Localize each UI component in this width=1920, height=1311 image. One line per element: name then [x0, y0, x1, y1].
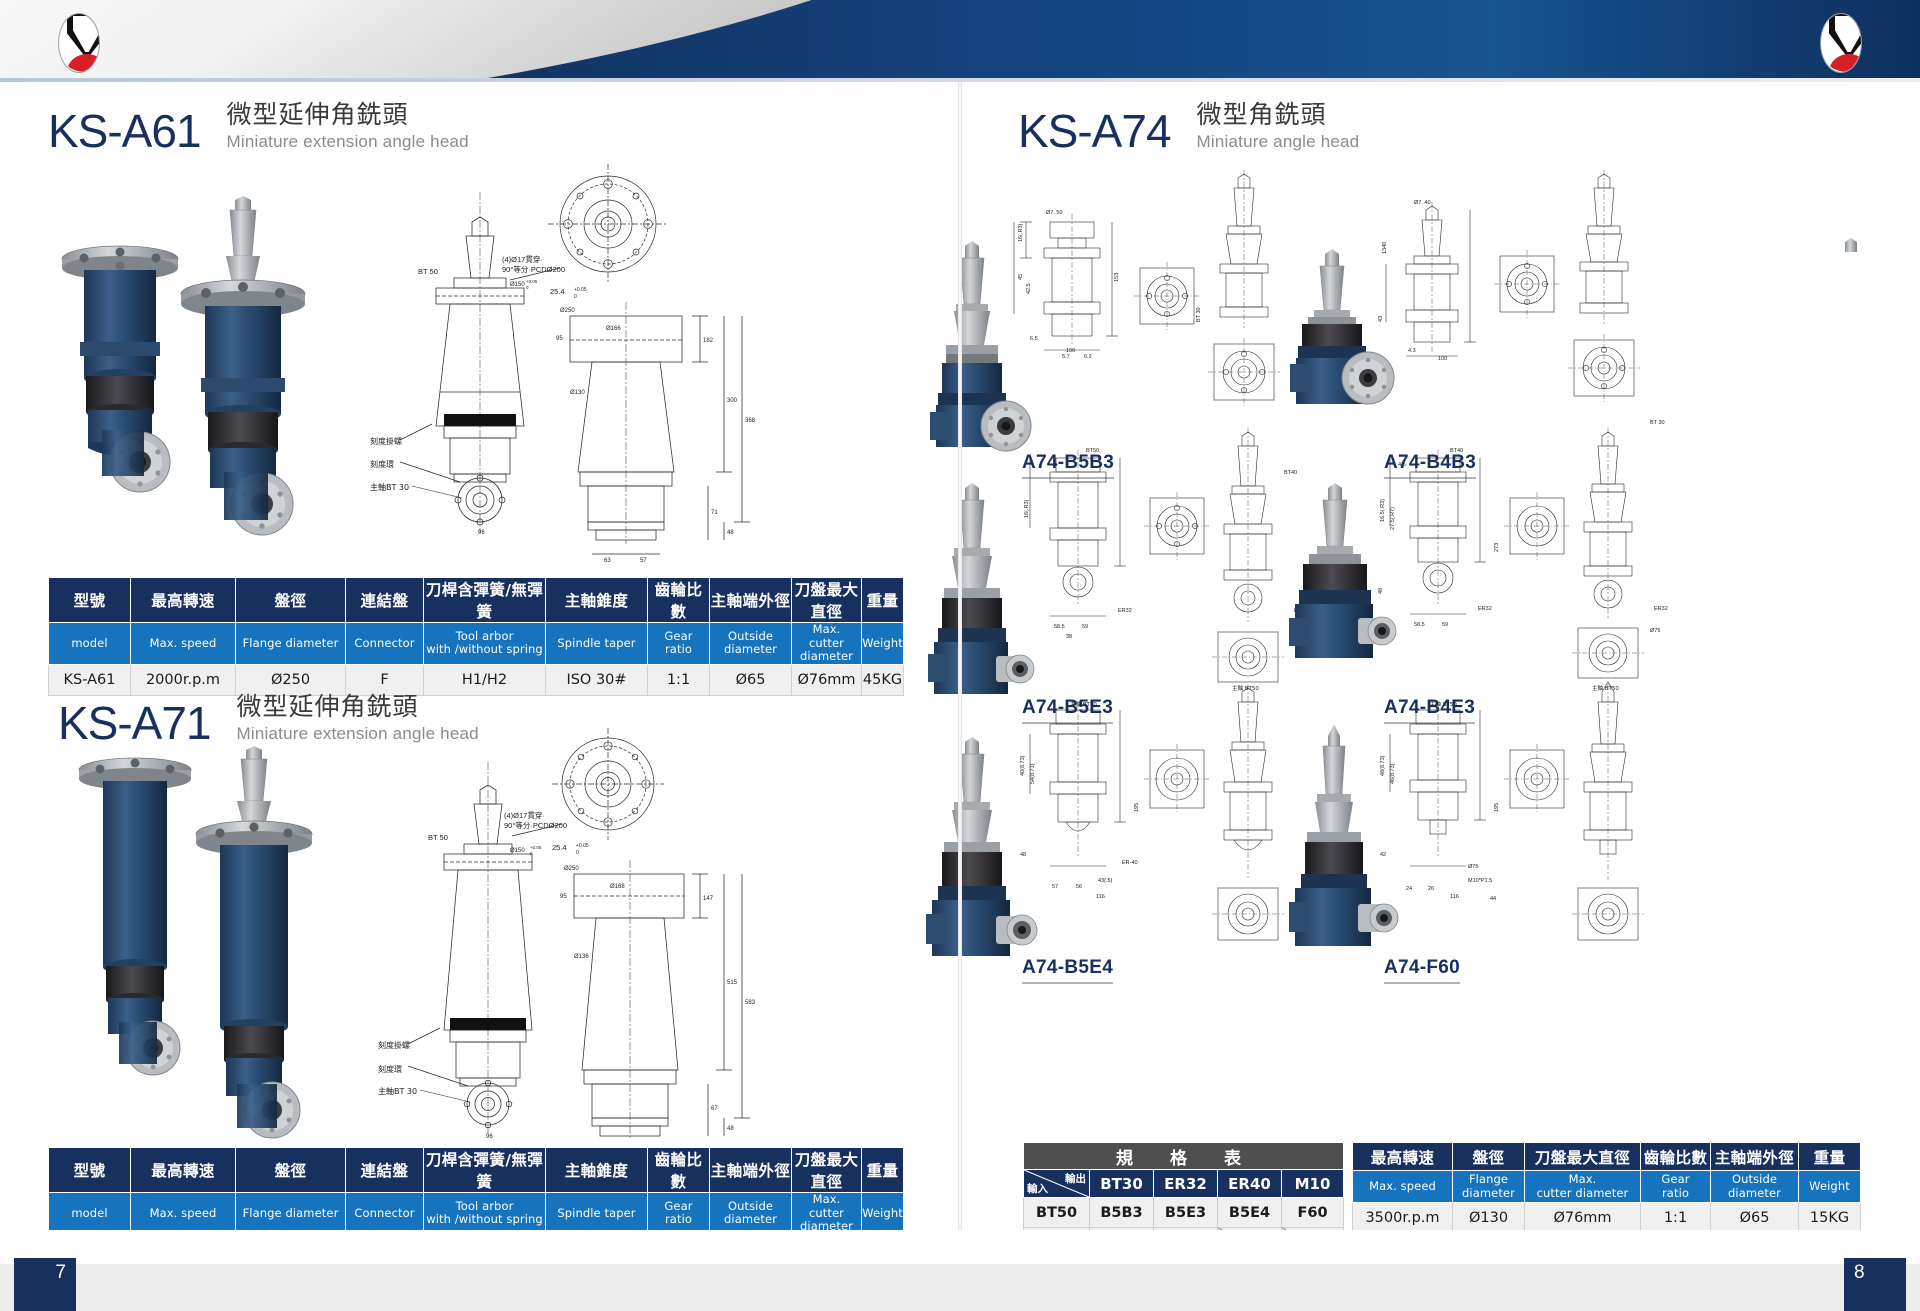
- th-cn-model: 型號: [49, 578, 131, 623]
- svg-text:BT50: BT50: [1086, 448, 1099, 454]
- matrix-rowhead-bt50: BT50: [1024, 1198, 1090, 1228]
- matrix-header-row: 輸入 輸出 BT30 ER32 ER40 M10: [1024, 1170, 1344, 1198]
- photo-unit-2: [181, 196, 305, 535]
- svg-text:56: 56: [1076, 884, 1082, 890]
- svg-text:57: 57: [640, 558, 647, 564]
- td-flange-diameter: Ø250: [236, 664, 346, 695]
- svg-text:195: 195: [1134, 803, 1140, 812]
- svg-text:刻度掛螺: 刻度掛螺: [378, 1040, 410, 1050]
- svg-text:43: 43: [1378, 316, 1384, 322]
- svg-text:96: 96: [478, 530, 485, 536]
- product-name-cn: 微型角銑頭: [1197, 100, 1360, 130]
- svg-text:主軸 BT50: 主軸 BT50: [1592, 684, 1619, 692]
- svg-text:44: 44: [1490, 896, 1496, 902]
- th-en-model: model: [49, 1193, 131, 1235]
- td-max-cutter-diameter: Ø76mm: [1525, 1203, 1641, 1234]
- table-row: 3500r.p.m Ø130 Ø76mm 1:1 Ø65 15KG: [1353, 1203, 1861, 1234]
- th-en-max-speed: Max. speed: [131, 623, 236, 665]
- th-en-spindle-taper: Spindle taper: [546, 623, 648, 665]
- elevation-drawing-a61: [570, 302, 750, 554]
- th-cn-model: 型號: [49, 1148, 131, 1193]
- svg-text:4.5: 4.5: [1398, 462, 1406, 468]
- svg-text:Ø7. 50: Ø7. 50: [1046, 210, 1063, 216]
- svg-text:刻度環: 刻度環: [370, 459, 394, 469]
- table-header-row-cn: 型號 最高轉速 盤徑 連結盤 刀桿含彈簧/無彈簧 主軸錐度 齒輪比數 主軸端外徑…: [49, 578, 904, 623]
- th-en-connector: Connector: [346, 623, 424, 665]
- th-en-max-cutter-diameter: Max.cutter diameter: [1525, 1171, 1641, 1203]
- logo-red-shape: [67, 54, 100, 72]
- svg-text:主軸BT 30: 主軸BT 30: [378, 1086, 417, 1096]
- views-a74-b4e3: [1572, 428, 1644, 678]
- table-header-row-en: model Max. speed Flange diameter Connect…: [49, 623, 904, 665]
- product-heading-ks-a61: KS-A61 微型延伸角銑頭 Miniature extension angle…: [48, 100, 469, 154]
- svg-text:Ø168: Ø168: [610, 884, 625, 890]
- product-code: KS-A74: [1018, 108, 1171, 154]
- svg-text:M10*P1.5: M10*P1.5: [1468, 878, 1492, 884]
- svg-text:5.7: 5.7: [1062, 354, 1070, 360]
- product-name-block: 微型延伸角銑頭 Miniature extension angle head: [227, 100, 469, 154]
- svg-text:95: 95: [556, 336, 563, 342]
- ks-a71-drawing: (4)Ø17貫穿· 90°等分·PCDØ200 25.4 +0.05 0 B: [40, 742, 940, 1162]
- svg-text:+0.05: +0.05: [574, 287, 587, 293]
- th-cn-max-speed: 最高轉速: [1353, 1143, 1453, 1171]
- svg-text:1340: 1340: [1382, 242, 1388, 254]
- th-en-weight: Weight: [862, 1193, 904, 1235]
- svg-text:BT 50: BT 50: [428, 833, 448, 842]
- svg-text:+0.05: +0.05: [530, 845, 542, 850]
- svg-text:195: 195: [1494, 803, 1500, 812]
- matrix-corner-cell: 輸入 輸出: [1024, 1170, 1090, 1198]
- svg-text:54(8.71): 54(8.71): [1030, 763, 1036, 784]
- svg-text:ER-40: ER-40: [1122, 860, 1138, 866]
- spec-table-ks-a61: 型號 最高轉速 盤徑 連結盤 刀桿含彈簧/無彈簧 主軸錐度 齒輪比數 主軸端外徑…: [48, 577, 904, 696]
- a74-f60-drawing: 主軸 BT50 48(8.73) 46(8.73) 42 24 26 Ø75 M…: [1230, 682, 1710, 972]
- svg-text:58.5: 58.5: [1414, 622, 1425, 628]
- td-spindle-taper: ISO 30#: [546, 664, 648, 695]
- photo-unit-1: [79, 758, 191, 1075]
- matrix-col-er40: ER40: [1218, 1170, 1282, 1198]
- model-label-a74-f60: A74-F60: [1384, 957, 1460, 984]
- th-en-tool-arbor: Tool arborwith /without spring: [424, 623, 546, 665]
- footer-white-strip: [0, 1230, 1920, 1264]
- banner-silver-swoosh: [0, 0, 1145, 82]
- illustration-a74-f60: 主軸 BT50 48(8.73) 46(8.73) 42 24 26 Ø75 M…: [1230, 682, 1710, 972]
- svg-text:48(8.73): 48(8.73): [1380, 755, 1386, 776]
- th-en-connector: Connector: [346, 1193, 424, 1235]
- table-header-row-cn: 最高轉速 盤徑 刀盤最大直徑 齒輪比數 主軸端外徑 重量: [1353, 1143, 1861, 1171]
- th-cn-gear-ratio: 齒輪比數: [648, 1148, 710, 1193]
- th-cn-flange-diameter: 盤徑: [236, 1148, 346, 1193]
- table-header-row-en: model Max. speed Flange diameter Connect…: [49, 1193, 904, 1235]
- th-en-max-speed: Max. speed: [1353, 1171, 1453, 1203]
- svg-text:116: 116: [1096, 894, 1105, 900]
- svg-text:刻度環: 刻度環: [378, 1064, 402, 1074]
- logo-red-shape: [1829, 54, 1862, 72]
- product-code: KS-A61: [48, 108, 201, 154]
- th-en-flange-diameter: Flange diameter: [236, 1193, 346, 1235]
- svg-text:116: 116: [1450, 894, 1459, 900]
- svg-text:90°等分·PCDØ200: 90°等分·PCDØ200: [502, 264, 565, 274]
- th-cn-max-cutter-diameter: 刀盤最大直徑: [792, 1148, 862, 1193]
- th-cn-max-cutter-diameter: 刀盤最大直徑: [1525, 1143, 1641, 1171]
- product-name-en: Miniature extension angle head: [227, 131, 469, 152]
- matrix-cell-b5e3: B5E3: [1154, 1198, 1218, 1228]
- th-en-outside-diameter: Outsidediameter: [710, 1193, 792, 1235]
- svg-text:48: 48: [727, 530, 734, 536]
- svg-text:515: 515: [727, 980, 738, 986]
- th-en-outside-diameter: Outsidediameter: [710, 623, 792, 665]
- svg-text:48: 48: [1378, 588, 1384, 594]
- svg-text:27.5(.R7): 27.5(.R7): [1390, 507, 1396, 530]
- footer-grey-bar: [0, 1264, 1920, 1311]
- svg-text:Ø75: Ø75: [1650, 628, 1660, 634]
- td-model: KS-A61: [49, 664, 131, 695]
- svg-text:0: 0: [574, 294, 577, 300]
- views-a74-f60: [1572, 682, 1644, 940]
- th-en-max-speed: Max. speed: [131, 1193, 236, 1235]
- svg-text:71: 71: [711, 510, 718, 516]
- dims-a74-b4b3: [1386, 202, 1560, 356]
- svg-text:+0.05: +0.05: [576, 843, 589, 849]
- svg-text:Ø130: Ø130: [570, 390, 585, 396]
- svg-text:67: 67: [711, 1106, 718, 1112]
- svg-text:Ø150: Ø150: [510, 848, 525, 854]
- th-cn-connector: 連結盤: [346, 1148, 424, 1193]
- page-gutter: [958, 82, 962, 1230]
- th-en-tool-arbor: Tool arborwith /without spring: [424, 1193, 546, 1235]
- svg-text:ER32: ER32: [1478, 606, 1492, 612]
- logo-ellipse-icon: [58, 13, 100, 73]
- matrix-col-er32: ER32: [1154, 1170, 1218, 1198]
- dims-a74-b5b3: [1014, 214, 1200, 350]
- svg-text:300: 300: [727, 398, 738, 404]
- th-en-weight: Weight: [1799, 1171, 1861, 1203]
- product-name-block: 微型延伸角銑頭 Miniature extension angle head: [237, 692, 479, 746]
- svg-text:6.2: 6.2: [1084, 354, 1092, 360]
- svg-text:0: 0: [530, 851, 533, 856]
- th-cn-spindle-taper: 主軸錐度: [546, 1148, 648, 1193]
- svg-text:刻度掛螺: 刻度掛螺: [370, 436, 402, 446]
- matrix-cell-b5b3: B5B3: [1090, 1198, 1154, 1228]
- svg-text:(4)Ø17貫穿·: (4)Ø17貫穿·: [504, 810, 545, 820]
- photo-body: [1290, 249, 1394, 404]
- matrix-title-row: 規 格 表: [1024, 1143, 1344, 1170]
- svg-text:Ø250: Ø250: [564, 866, 579, 872]
- svg-text:58.5: 58.5: [1054, 624, 1065, 630]
- product-name-en: Miniature angle head: [1197, 131, 1360, 152]
- svg-text:主軸BT 30: 主軸BT 30: [370, 482, 409, 492]
- dims-a74-b5e4: [1030, 702, 1210, 866]
- product-code: KS-A71: [58, 700, 211, 746]
- matrix-col-bt30: BT30: [1090, 1170, 1154, 1198]
- spec-table-ks-a74: 最高轉速 盤徑 刀盤最大直徑 齒輪比數 主軸端外徑 重量 Max. speed …: [1352, 1142, 1861, 1234]
- th-cn-outside-diameter: 主軸端外徑: [1711, 1143, 1799, 1171]
- dims-a74-b4e3: [1390, 450, 1570, 614]
- section-drawing-a61: [400, 192, 524, 532]
- svg-text:Ø7. 40: Ø7. 40: [1414, 200, 1431, 206]
- svg-text:0: 0: [526, 285, 529, 290]
- th-cn-tool-arbor: 刀桿含彈簧/無彈簧: [424, 1148, 546, 1193]
- th-cn-max-cutter-diameter: 刀盤最大直徑: [792, 578, 862, 623]
- th-cn-gear-ratio: 齒輪比數: [1641, 1143, 1711, 1171]
- svg-text:40(8.73): 40(8.73): [1020, 755, 1026, 776]
- product-heading-ks-a71: KS-A71 微型延伸角銑頭 Miniature extension angle…: [58, 692, 479, 746]
- svg-text:57: 57: [1052, 884, 1058, 890]
- svg-text:4.3: 4.3: [1408, 348, 1416, 354]
- right-page: KS-A74 微型角銑頭 Miniature angle head: [960, 82, 1920, 1230]
- svg-text:16(.R3): 16(.R3): [1024, 499, 1030, 518]
- a74-b4b3-drawing: Ø7. 40 1340 43 4.3 100 BT 30: [1230, 162, 1710, 452]
- td-gear-ratio: 1:1: [1641, 1203, 1711, 1234]
- matrix-corner-output: 輸出: [1065, 1171, 1086, 1186]
- illustration-a74-b4e3: BT40 4.5 16.5(.R3) 27.5(.R7) 48 58.5 59 …: [1230, 422, 1710, 712]
- svg-text:59: 59: [1442, 622, 1448, 628]
- td-outside-diameter: Ø65: [1711, 1203, 1799, 1234]
- svg-text:ER32: ER32: [1118, 608, 1132, 614]
- svg-text:Ø75: Ø75: [1468, 864, 1478, 870]
- th-cn-max-speed: 最高轉速: [131, 1148, 236, 1193]
- svg-text:BT 30: BT 30: [1196, 307, 1202, 322]
- svg-text:Ø166: Ø166: [606, 326, 621, 332]
- company-logo-right: [1812, 13, 1868, 71]
- svg-text:100: 100: [1066, 348, 1075, 354]
- a74-b4e3-drawing: BT40 4.5 16.5(.R3) 27.5(.R7) 48 58.5 59 …: [1230, 422, 1710, 712]
- svg-text:46(8.73): 46(8.73): [1390, 763, 1396, 784]
- svg-text:43(.5): 43(.5): [1098, 878, 1113, 884]
- svg-text:273: 273: [1494, 543, 1500, 552]
- td-max-cutter-diameter: Ø76mm: [792, 664, 862, 695]
- page-number-right: 8: [1844, 1258, 1906, 1311]
- th-en-flange-diameter: Flangediameter: [1453, 1171, 1525, 1203]
- svg-text:16(.R3): 16(.R3): [1018, 223, 1024, 242]
- td-connector: F: [346, 664, 424, 695]
- th-cn-outside-diameter: 主軸端外徑: [710, 1148, 792, 1193]
- matrix-row-bt50: BT50 B5B3 B5E3 B5E4 F60: [1024, 1198, 1344, 1228]
- th-cn-outside-diameter: 主軸端外徑: [710, 578, 792, 623]
- header-banner: [0, 0, 1920, 82]
- product-name-block: 微型角銑頭 Miniature angle head: [1197, 100, 1360, 154]
- photo-body: [928, 483, 1034, 694]
- company-logo-left: [50, 13, 106, 71]
- svg-text:Ø250: Ø250: [560, 308, 575, 314]
- svg-text:0: 0: [576, 850, 579, 856]
- svg-text:42.5: 42.5: [1026, 283, 1032, 294]
- svg-text:26: 26: [1428, 886, 1434, 892]
- th-en-outside-diameter: Outsidediameter: [1711, 1171, 1799, 1203]
- svg-text:96: 96: [486, 1134, 493, 1140]
- svg-text:38: 38: [1066, 634, 1072, 640]
- svg-text:主軸 BT50: 主軸 BT50: [1430, 700, 1457, 708]
- svg-text:Ø136: Ø136: [574, 954, 589, 960]
- th-cn-gear-ratio: 齒輪比數: [648, 578, 710, 623]
- td-flange-diameter: Ø130: [1453, 1203, 1525, 1234]
- svg-text:BT 50: BT 50: [418, 267, 438, 276]
- th-cn-weight: 重量: [862, 1148, 904, 1193]
- th-en-model: model: [49, 623, 131, 665]
- photo-unit-2: [196, 746, 312, 1138]
- svg-text:100: 100: [1438, 356, 1447, 362]
- svg-text:48: 48: [1020, 852, 1026, 858]
- th-cn-connector: 連結盤: [346, 578, 424, 623]
- svg-text:主軸 BT50: 主軸 BT50: [1070, 700, 1097, 708]
- svg-text:48: 48: [727, 1126, 734, 1132]
- photo-body: [930, 241, 1031, 451]
- table-row: KS-A61 2000r.p.m Ø250 F H1/H2 ISO 30# 1:…: [49, 664, 904, 695]
- matrix-col-m10: M10: [1282, 1170, 1344, 1198]
- td-outside-diameter: Ø65: [710, 664, 792, 695]
- th-en-gear-ratio: Gearratio: [648, 1193, 710, 1235]
- svg-text:6.5: 6.5: [1030, 336, 1038, 342]
- illustration-a74-b4b3: Ø7. 40 1340 43 4.3 100 BT 30: [1230, 162, 1710, 452]
- model-label-a74-b5e4: A74-B5E4: [1022, 957, 1113, 984]
- table-header-row-en: Max. speed Flangediameter Max.cutter dia…: [1353, 1171, 1861, 1203]
- logo-ellipse-icon: [1820, 13, 1862, 73]
- photo-a74-b5b3: [1838, 162, 1857, 252]
- svg-text:25.4: 25.4: [552, 843, 567, 852]
- illustration-ks-a61: (4)Ø17貫穿· 90°等分·PCDØ200 25.4 +0.05 0: [40, 162, 940, 542]
- td-tool-arbor: H1/H2: [424, 664, 546, 695]
- th-cn-flange-diameter: 盤徑: [236, 578, 346, 623]
- product-heading-ks-a74: KS-A74 微型角銑頭 Miniature angle head: [1018, 100, 1359, 154]
- td-weight: 15KG: [1799, 1203, 1861, 1234]
- svg-text:153: 153: [1114, 273, 1120, 282]
- th-cn-flange-diameter: 盤徑: [1453, 1143, 1525, 1171]
- th-cn-spindle-taper: 主軸錐度: [546, 578, 648, 623]
- td-max-speed: 3500r.p.m: [1353, 1203, 1453, 1234]
- svg-text:583: 583: [745, 1000, 756, 1006]
- svg-text:147: 147: [703, 896, 714, 902]
- svg-text:+0.05: +0.05: [526, 279, 538, 284]
- product-name-cn: 微型延伸角銑頭: [237, 692, 479, 722]
- svg-text:45: 45: [1018, 274, 1024, 280]
- svg-text:16.5(.R3): 16.5(.R3): [1380, 499, 1386, 522]
- table-header-row-cn: 型號 最高轉速 盤徑 連結盤 刀桿含彈簧/無彈簧 主軸錐度 齒輪比數 主軸端外徑…: [49, 1148, 904, 1193]
- views-a74-b4b3: [1568, 170, 1640, 402]
- illustration-ks-a71: (4)Ø17貫穿· 90°等分·PCDØ200 25.4 +0.05 0 B: [40, 742, 940, 1162]
- svg-text:24: 24: [1406, 886, 1412, 892]
- page-number-left: 7: [14, 1258, 76, 1311]
- svg-text:368: 368: [745, 418, 756, 424]
- td-max-speed: 2000r.p.m: [131, 664, 236, 695]
- th-en-flange-diameter: Flange diameter: [236, 623, 346, 665]
- matrix-cell-f60: F60: [1282, 1198, 1344, 1228]
- svg-text:Ø150: Ø150: [510, 282, 525, 288]
- svg-text:59: 59: [1082, 624, 1088, 630]
- matrix-cell-b5e4: B5E4: [1218, 1198, 1282, 1228]
- th-en-gear-ratio: Gearratio: [648, 623, 710, 665]
- th-en-gear-ratio: Gearratio: [1641, 1171, 1711, 1203]
- product-name-cn: 微型延伸角銑頭: [227, 100, 469, 130]
- svg-text:BT40: BT40: [1450, 448, 1463, 454]
- th-cn-max-speed: 最高轉速: [131, 578, 236, 623]
- svg-text:63: 63: [604, 558, 611, 564]
- th-en-max-cutter-diameter: Max.cutter diameter: [792, 623, 862, 665]
- matrix-title: 規 格 表: [1024, 1143, 1344, 1170]
- dims-a74-f60: [1390, 702, 1570, 866]
- th-cn-weight: 重量: [1799, 1143, 1861, 1171]
- svg-text:95: 95: [560, 894, 567, 900]
- left-page: KS-A61 微型延伸角銑頭 Miniature extension angle…: [0, 82, 960, 1230]
- svg-text:25.4: 25.4: [550, 287, 565, 296]
- dims-a74-b5e3: [1030, 450, 1210, 616]
- th-cn-tool-arbor: 刀桿含彈簧/無彈簧: [424, 578, 546, 623]
- td-gear-ratio: 1:1: [648, 664, 710, 695]
- photo-unit-1: [62, 246, 178, 492]
- svg-text:182: 182: [703, 338, 714, 344]
- product-name-en: Miniature extension angle head: [237, 723, 479, 744]
- th-en-spindle-taper: Spindle taper: [546, 1193, 648, 1235]
- th-en-max-cutter-diameter: Max.cutter diameter: [792, 1193, 862, 1235]
- ks-a61-drawing: (4)Ø17貫穿· 90°等分·PCDØ200 25.4 +0.05 0: [40, 162, 940, 542]
- svg-text:42: 42: [1380, 852, 1386, 858]
- svg-text:(4)Ø17貫穿·: (4)Ø17貫穿·: [502, 254, 543, 264]
- svg-text:90°等分·PCDØ200: 90°等分·PCDØ200: [504, 820, 567, 830]
- svg-text:ER32: ER32: [1654, 606, 1668, 612]
- elevation-drawing-a71: [574, 860, 750, 1150]
- matrix-corner-input: 輸入: [1027, 1181, 1048, 1196]
